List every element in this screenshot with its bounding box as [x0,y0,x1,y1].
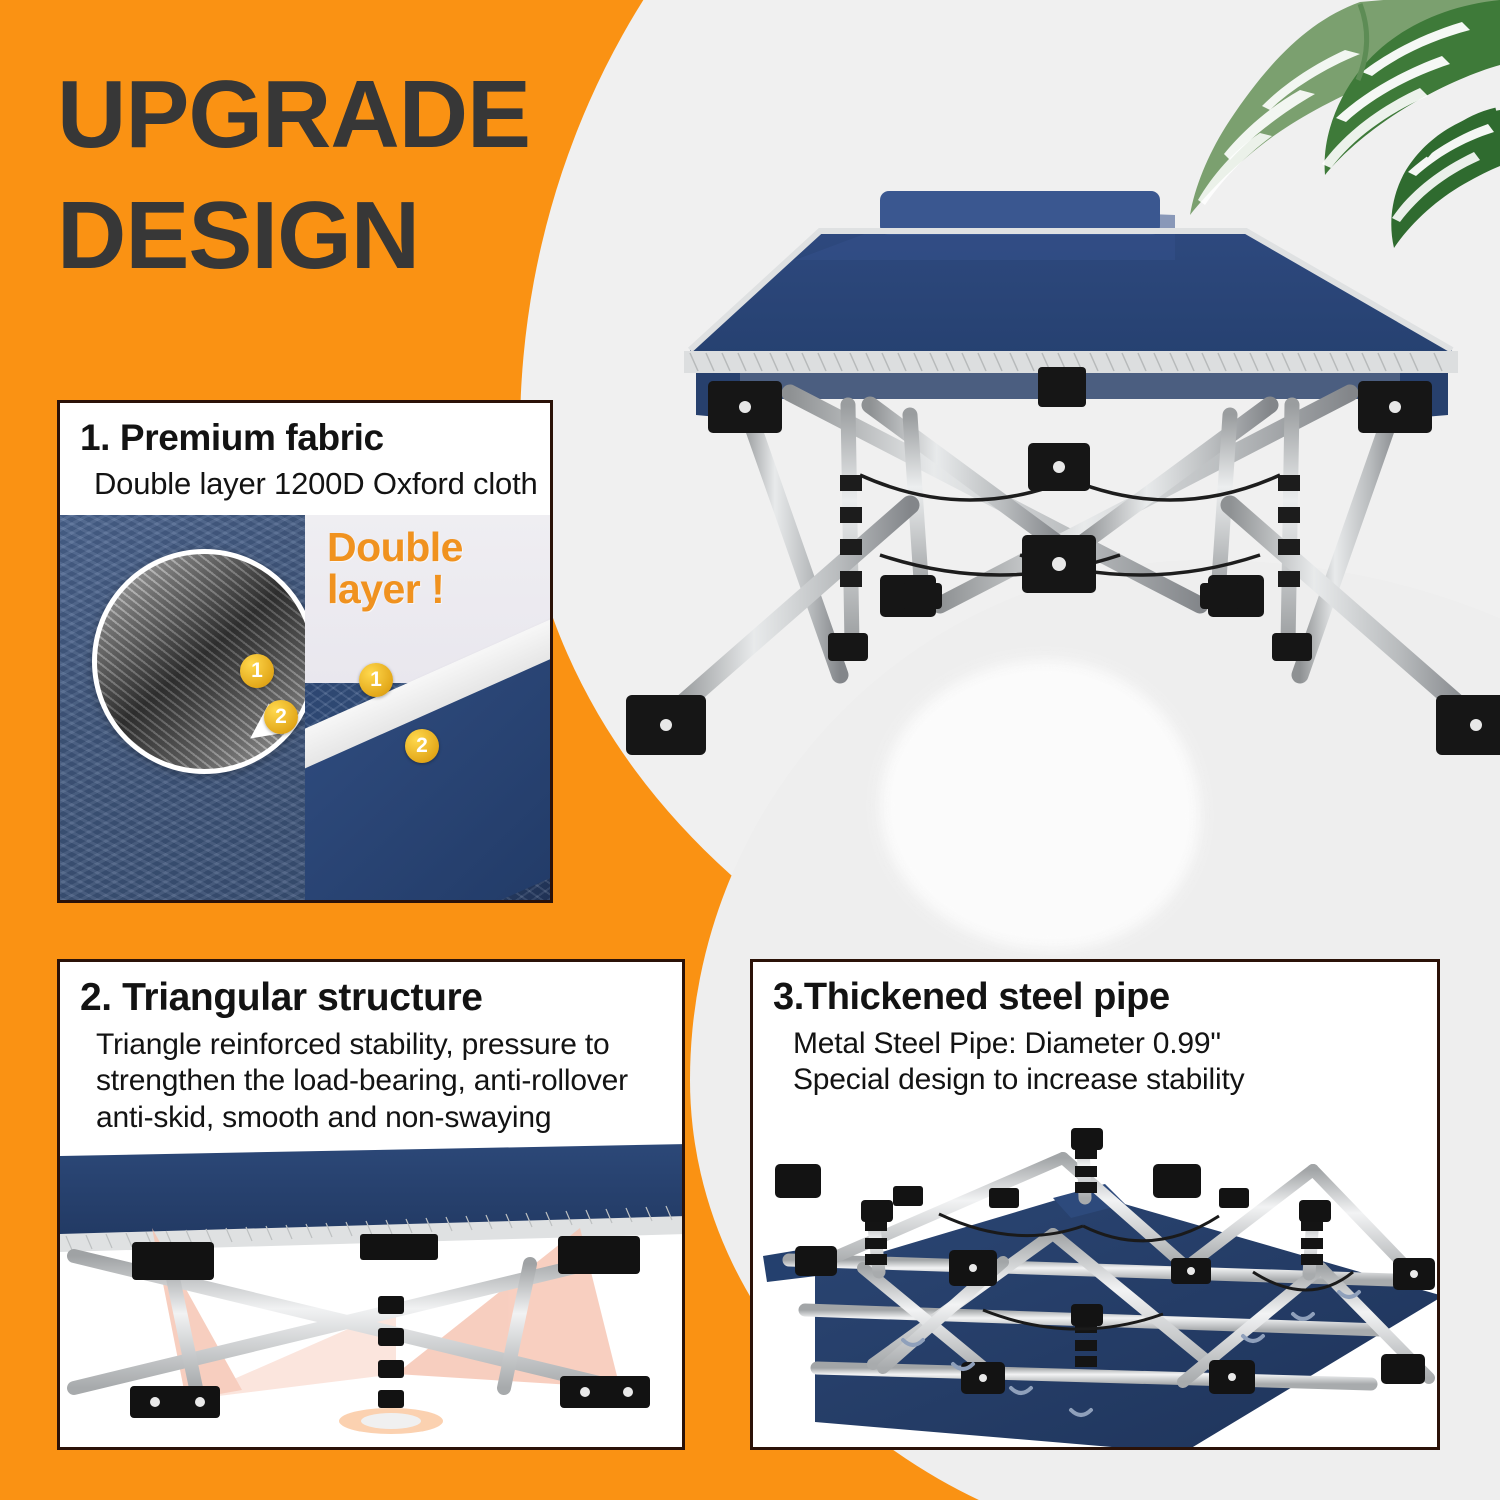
feature-panel-premium-fabric: 1. Premium fabric Double layer 1200D Oxf… [57,400,553,903]
title-line-2: DESIGN [57,176,617,297]
page-title: UPGRADE DESIGN [57,55,617,297]
layer-badge-1b: 1 [359,663,393,697]
feature-panel-triangular-structure: 2. Triangular structure Triangle reinfor… [57,959,685,1450]
panel-2-heading: 2. Triangular structure [80,976,682,1021]
panel-3-body: Metal Steel Pipe: Diameter 0.99" Special… [793,1026,1437,1098]
panel-2-body: Triangle reinforced stability, pressure … [96,1027,682,1137]
panel-3-body-line-1: Metal Steel Pipe: Diameter 0.99" [793,1026,1437,1062]
fabric-magnifier-photo: 1 2 [60,515,305,900]
layer-badge-2: 2 [264,700,298,734]
panel-3-heading: 3.Thickened steel pipe [773,976,1437,1020]
layer-badge-1: 1 [240,654,274,688]
panel-2-body-line-1: Triangle reinforced stability, pressure … [96,1027,682,1064]
panel-1-image-strip: 1 2 Double layer ! 1 2 [60,515,550,900]
panel-3-illustration [753,1122,1437,1450]
title-line-1: UPGRADE [57,55,617,176]
callout-line-1: Double [327,527,463,569]
layer-badge-2b: 2 [405,729,439,763]
panel-3-body-line-2: Special design to increase stability [793,1062,1437,1098]
panel-1-subheading: Double layer 1200D Oxford cloth [94,466,550,502]
panel-2-body-line-2: strengthen the load-bearing, anti-rollov… [96,1063,682,1100]
panel-1-heading: 1. Premium fabric [80,417,550,460]
double-layer-photo: Double layer ! 1 2 [305,515,550,900]
double-layer-callout: Double layer ! [327,527,463,611]
infographic-canvas: 1. Premium fabric Double layer 1200D Oxf… [0,0,1500,1500]
callout-line-2: layer ! [327,569,463,611]
feature-panel-thickened-steel-pipe: 3.Thickened steel pipe Metal Steel Pipe:… [750,959,1440,1450]
panel-2-body-line-3: anti-skid, smooth and non-swaying [96,1100,682,1137]
panel-2-illustration [60,1138,682,1450]
